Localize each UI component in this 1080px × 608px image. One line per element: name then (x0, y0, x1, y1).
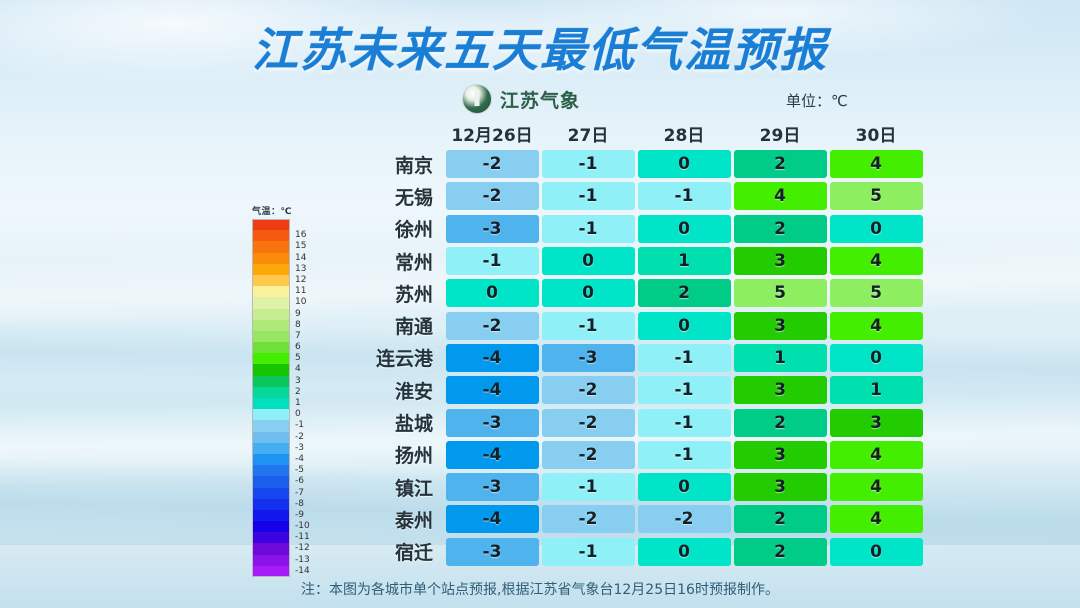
legend-swatch (252, 387, 290, 398)
legend-swatch (252, 398, 290, 409)
temperature-cell-wrap: 4 (828, 473, 924, 501)
temperature-cell: -3 (446, 215, 539, 243)
temperature-cell-wrap: 0 (636, 473, 732, 501)
legend-swatch (252, 241, 290, 252)
legend-label: 9 (295, 309, 301, 320)
legend-row: -10 (252, 521, 310, 532)
temperature-cell-wrap: 2 (732, 505, 828, 533)
temperature-cell: 0 (830, 538, 923, 566)
legend-label: 11 (295, 286, 306, 297)
temperature-cell-wrap: 3 (732, 247, 828, 275)
legend-swatch (252, 409, 290, 420)
temperature-cell: 4 (830, 441, 923, 469)
temperature-cell: -1 (446, 247, 539, 275)
legend-row: -6 (252, 476, 310, 487)
legend-label: 16 (295, 230, 306, 241)
legend-label: -2 (295, 432, 304, 443)
temperature-cell-wrap: 1 (636, 247, 732, 275)
temperature-cell-wrap: -1 (636, 409, 732, 437)
temperature-cell: 2 (734, 538, 827, 566)
temperature-cell: 0 (638, 538, 731, 566)
table-header-row: 12月26日27日28日29日30日 (336, 118, 924, 148)
legend-row: 7 (252, 331, 310, 342)
legend-label: 10 (295, 297, 306, 308)
temperature-cell: 3 (734, 441, 827, 469)
legend-swatch (252, 420, 290, 431)
temperature-cell: -3 (446, 538, 539, 566)
temperature-cell-wrap: -1 (636, 182, 732, 210)
temperature-cell: -4 (446, 376, 539, 404)
temperature-cell-wrap: 5 (828, 182, 924, 210)
city-name: 泰州 (336, 506, 444, 533)
temperature-cell: -4 (446, 505, 539, 533)
legend-swatch (252, 476, 290, 487)
temperature-cell-wrap: 5 (732, 279, 828, 307)
legend-label: 0 (295, 409, 301, 420)
temperature-cell: -4 (446, 441, 539, 469)
table-row: 南京-2-1024 (336, 148, 924, 180)
legend-row: 5 (252, 353, 310, 364)
legend-row: 1 (252, 398, 310, 409)
legend-row: 9 (252, 309, 310, 320)
temperature-cell-wrap: -2 (636, 505, 732, 533)
legend-row: 13 (252, 264, 310, 275)
forecast-table: 12月26日27日28日29日30日 南京-2-1024无锡-2-1-145徐州… (336, 118, 924, 568)
legend-label: 8 (295, 320, 301, 331)
temperature-cell: 4 (830, 505, 923, 533)
temperature-cell-wrap: 1 (828, 376, 924, 404)
table-row: 扬州-4-2-134 (336, 439, 924, 471)
legend-row: -5 (252, 465, 310, 476)
legend-label: 5 (295, 353, 301, 364)
legend-swatch (252, 342, 290, 353)
legend-swatch (252, 297, 290, 308)
legend-swatch (252, 264, 290, 275)
temperature-cell: -1 (542, 215, 635, 243)
legend-swatch (252, 331, 290, 342)
temperature-cell: 0 (830, 344, 923, 372)
temperature-cell: 2 (638, 279, 731, 307)
temperature-cell: -1 (638, 182, 731, 210)
table-row: 南通-2-1034 (336, 309, 924, 341)
temperature-cell: -2 (638, 505, 731, 533)
page-title: 江苏未来五天最低气温预报 (0, 14, 1080, 80)
temperature-cell: 0 (638, 215, 731, 243)
temperature-cell-wrap: 4 (828, 441, 924, 469)
temperature-cell-wrap: 0 (636, 538, 732, 566)
legend-swatch (252, 532, 290, 543)
temperature-cell: 2 (734, 505, 827, 533)
legend-row: -7 (252, 488, 310, 499)
legend-label: -8 (295, 499, 304, 510)
legend-row: 11 (252, 286, 310, 297)
temperature-cell: 3 (830, 409, 923, 437)
temperature-cell-wrap: 0 (828, 538, 924, 566)
legend-label: 4 (295, 364, 301, 375)
temperature-cell: -3 (542, 344, 635, 372)
temperature-cell-wrap: 5 (828, 279, 924, 307)
temperature-cell: -1 (542, 150, 635, 178)
legend-label: -9 (295, 510, 304, 521)
temperature-cell-wrap: 0 (540, 247, 636, 275)
legend-row (252, 219, 310, 230)
temperature-cell-wrap: 0 (540, 279, 636, 307)
temperature-cell-wrap: -2 (540, 441, 636, 469)
legend-swatch (252, 543, 290, 554)
legend-swatch (252, 230, 290, 241)
temperature-cell-wrap: 3 (732, 312, 828, 340)
table-header-date-0: 12月26日 (444, 121, 540, 146)
legend-row: 15 (252, 241, 310, 252)
legend-row: -8 (252, 499, 310, 510)
temperature-cell: -1 (638, 441, 731, 469)
legend-row: -2 (252, 432, 310, 443)
legend-row: -12 (252, 543, 310, 554)
temperature-cell: 3 (734, 312, 827, 340)
legend-swatch (252, 219, 290, 230)
temperature-color-legend: 气温：℃ 161514131211109876543210-1-2-3-4-5-… (252, 204, 310, 577)
legend-row: -9 (252, 510, 310, 521)
legend-row: -3 (252, 443, 310, 454)
legend-swatch (252, 432, 290, 443)
legend-label: -10 (295, 521, 310, 532)
table-row: 镇江-3-1034 (336, 471, 924, 503)
legend-label: 2 (295, 387, 301, 398)
city-name: 盐城 (336, 409, 444, 436)
table-row: 盐城-3-2-123 (336, 406, 924, 438)
temperature-cell-wrap: -1 (636, 344, 732, 372)
temperature-cell: 4 (734, 182, 827, 210)
legend-swatch (252, 320, 290, 331)
legend-swatch (252, 309, 290, 320)
legend-label: 1 (295, 398, 301, 409)
table-header-date-4: 30日 (828, 121, 924, 146)
temperature-cell: 4 (830, 150, 923, 178)
city-name: 苏州 (336, 280, 444, 307)
legend-swatch (252, 286, 290, 297)
legend-swatch (252, 253, 290, 264)
temperature-cell: 5 (734, 279, 827, 307)
temperature-cell: -2 (542, 409, 635, 437)
temperature-cell-wrap: 0 (444, 279, 540, 307)
temperature-cell-wrap: 0 (828, 215, 924, 243)
legend-label: -12 (295, 543, 310, 554)
temperature-cell: 0 (446, 279, 539, 307)
legend-row: -4 (252, 454, 310, 465)
temperature-cell-wrap: 0 (636, 215, 732, 243)
legend-swatch (252, 353, 290, 364)
temperature-cell: -2 (446, 312, 539, 340)
temperature-cell: -1 (638, 409, 731, 437)
temperature-cell-wrap: -1 (540, 538, 636, 566)
legend-label: 12 (295, 275, 306, 286)
temperature-cell-wrap: -1 (444, 247, 540, 275)
city-name: 连云港 (336, 344, 444, 371)
table-header-date-2: 28日 (636, 121, 732, 146)
legend-swatch (252, 488, 290, 499)
temperature-cell: -1 (542, 538, 635, 566)
temperature-cell-wrap: -3 (444, 409, 540, 437)
temperature-cell: 3 (734, 247, 827, 275)
temperature-cell-wrap: -2 (540, 409, 636, 437)
legend-swatch (252, 465, 290, 476)
legend-row: 8 (252, 320, 310, 331)
legend-swatch (252, 499, 290, 510)
temperature-cell-wrap: -1 (540, 473, 636, 501)
table-header-date-3: 29日 (732, 121, 828, 146)
city-name: 扬州 (336, 441, 444, 468)
legend-row: -1 (252, 420, 310, 431)
temperature-cell: -1 (638, 344, 731, 372)
temperature-cell-wrap: 2 (732, 215, 828, 243)
temperature-cell: 4 (830, 247, 923, 275)
legend-row: 2 (252, 387, 310, 398)
temperature-cell-wrap: 1 (732, 344, 828, 372)
legend-label: 7 (295, 331, 301, 342)
legend-label: 13 (295, 264, 306, 275)
legend-swatch (252, 443, 290, 454)
temperature-cell: -3 (446, 409, 539, 437)
temperature-cell: 5 (830, 182, 923, 210)
temperature-cell: 4 (830, 473, 923, 501)
legend-label: -11 (295, 532, 310, 543)
unit-label: 单位：℃ (786, 90, 848, 111)
table-header-date-1: 27日 (540, 121, 636, 146)
temperature-cell-wrap: 0 (828, 344, 924, 372)
temperature-cell-wrap: 4 (732, 182, 828, 210)
city-name: 徐州 (336, 215, 444, 242)
legend-title: 气温：℃ (252, 204, 310, 217)
legend-scale: 161514131211109876543210-1-2-3-4-5-6-7-8… (252, 219, 310, 577)
legend-label: 14 (295, 253, 306, 264)
legend-row: 16 (252, 230, 310, 241)
temperature-cell-wrap: 2 (732, 538, 828, 566)
temperature-cell-wrap: -2 (540, 505, 636, 533)
temperature-cell-wrap: -3 (540, 344, 636, 372)
temperature-cell-wrap: 0 (636, 312, 732, 340)
table-row: 泰州-4-2-224 (336, 503, 924, 535)
temperature-cell-wrap: -3 (444, 538, 540, 566)
legend-swatch (252, 566, 290, 577)
legend-label: 6 (295, 342, 301, 353)
temperature-cell: 0 (638, 150, 731, 178)
legend-row: 0 (252, 409, 310, 420)
legend-row: 4 (252, 364, 310, 375)
legend-swatch (252, 364, 290, 375)
brand-logo-label: 江苏气象 (500, 86, 580, 113)
legend-swatch (252, 510, 290, 521)
temperature-cell-wrap: -4 (444, 441, 540, 469)
legend-row: 12 (252, 275, 310, 286)
city-name: 南京 (336, 151, 444, 178)
temperature-cell: 0 (830, 215, 923, 243)
legend-label: -3 (295, 443, 304, 454)
temperature-cell-wrap: -1 (540, 312, 636, 340)
temperature-cell: 2 (734, 215, 827, 243)
footer-note: 注：本图为各城市单个站点预报,根据江苏省气象台12月25日16时预报制作。 (0, 579, 1080, 599)
temperature-cell: 2 (734, 150, 827, 178)
temperature-cell: 0 (542, 247, 635, 275)
legend-swatch (252, 555, 290, 566)
temperature-cell-wrap: 4 (828, 312, 924, 340)
table-date-headers: 12月26日27日28日29日30日 (444, 121, 924, 146)
temperature-cell-wrap: -2 (444, 182, 540, 210)
temperature-cell: 3 (734, 473, 827, 501)
legend-swatch (252, 521, 290, 532)
temperature-cell: 2 (734, 409, 827, 437)
table-body: 南京-2-1024无锡-2-1-145徐州-3-1020常州-10134苏州00… (336, 148, 924, 568)
table-row: 连云港-4-3-110 (336, 342, 924, 374)
temperature-cell-wrap: -2 (444, 312, 540, 340)
legend-swatch (252, 275, 290, 286)
city-name: 无锡 (336, 183, 444, 210)
temperature-cell: -1 (638, 376, 731, 404)
temperature-cell-wrap: -1 (540, 182, 636, 210)
city-name: 镇江 (336, 474, 444, 501)
legend-label: -6 (295, 476, 304, 487)
temperature-cell: -4 (446, 344, 539, 372)
temperature-cell: 3 (734, 376, 827, 404)
legend-label: 3 (295, 376, 301, 387)
temperature-cell-wrap: -3 (444, 215, 540, 243)
temperature-cell: -1 (542, 473, 635, 501)
table-row: 常州-10134 (336, 245, 924, 277)
temperature-cell-wrap: 0 (636, 150, 732, 178)
temperature-cell-wrap: 2 (636, 279, 732, 307)
temperature-cell-wrap: -2 (540, 376, 636, 404)
temperature-cell-wrap: 4 (828, 150, 924, 178)
legend-swatch (252, 376, 290, 387)
temperature-cell: 0 (638, 473, 731, 501)
table-row: 无锡-2-1-145 (336, 180, 924, 212)
legend-row: 10 (252, 297, 310, 308)
table-row: 淮安-4-2-131 (336, 374, 924, 406)
brand-logo: 江苏气象 (462, 84, 580, 114)
city-name: 常州 (336, 248, 444, 275)
temperature-cell: 5 (830, 279, 923, 307)
temperature-cell-wrap: -1 (540, 215, 636, 243)
temperature-cell-wrap: -4 (444, 505, 540, 533)
temperature-cell: 1 (734, 344, 827, 372)
temperature-cell-wrap: -1 (636, 376, 732, 404)
table-row: 苏州00255 (336, 277, 924, 309)
legend-row: -13 (252, 555, 310, 566)
temperature-cell: 1 (638, 247, 731, 275)
legend-row: 3 (252, 376, 310, 387)
legend-label: -5 (295, 465, 304, 476)
temperature-cell-wrap: -4 (444, 344, 540, 372)
temperature-cell-wrap: 4 (828, 505, 924, 533)
temperature-cell-wrap: -3 (444, 473, 540, 501)
temperature-cell-wrap: 3 (732, 376, 828, 404)
temperature-cell: 4 (830, 312, 923, 340)
temperature-cell-wrap: -1 (636, 441, 732, 469)
legend-label: -7 (295, 488, 304, 499)
temperature-cell-wrap: -4 (444, 376, 540, 404)
temperature-cell: -2 (446, 182, 539, 210)
legend-label: -14 (295, 566, 310, 577)
table-row: 徐州-3-1020 (336, 213, 924, 245)
temperature-cell: -1 (542, 312, 635, 340)
temperature-cell-wrap: 4 (828, 247, 924, 275)
temperature-cell: 0 (542, 279, 635, 307)
temperature-cell-wrap: 2 (732, 150, 828, 178)
temperature-cell: -3 (446, 473, 539, 501)
temperature-cell: -2 (542, 505, 635, 533)
legend-row: -14 (252, 566, 310, 577)
temperature-cell: -1 (542, 182, 635, 210)
temperature-cell: 1 (830, 376, 923, 404)
legend-swatch (252, 454, 290, 465)
legend-row: 14 (252, 253, 310, 264)
legend-label: -1 (295, 420, 304, 431)
legend-row: 6 (252, 342, 310, 353)
temperature-cell-wrap: -2 (444, 150, 540, 178)
temperature-cell-wrap: 3 (732, 473, 828, 501)
legend-label: -13 (295, 555, 310, 566)
temperature-cell-wrap: 3 (828, 409, 924, 437)
city-name: 南通 (336, 312, 444, 339)
jiangsu-meteorological-emblem-icon (462, 84, 492, 114)
legend-label: -4 (295, 454, 304, 465)
temperature-cell-wrap: 2 (732, 409, 828, 437)
table-row: 宿迁-3-1020 (336, 536, 924, 568)
temperature-cell: -2 (542, 441, 635, 469)
temperature-cell: 0 (638, 312, 731, 340)
temperature-cell: -2 (446, 150, 539, 178)
legend-row: -11 (252, 532, 310, 543)
temperature-cell-wrap: -1 (540, 150, 636, 178)
legend-label: 15 (295, 241, 306, 252)
city-name: 淮安 (336, 377, 444, 404)
temperature-cell: -2 (542, 376, 635, 404)
city-name: 宿迁 (336, 538, 444, 565)
temperature-cell-wrap: 3 (732, 441, 828, 469)
